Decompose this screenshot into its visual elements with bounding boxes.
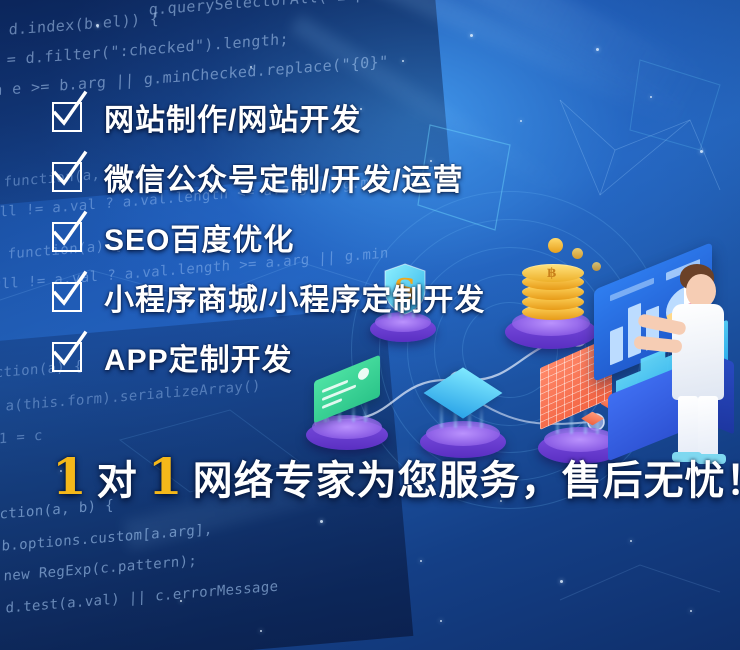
pedestal-card — [306, 410, 388, 450]
service-item-label: SEO百度优化 — [104, 215, 294, 259]
checked-box-icon[interactable] — [52, 342, 82, 372]
checked-box-icon[interactable] — [52, 282, 82, 312]
code-line: = b.options.custom[a.arg], — [0, 522, 213, 556]
checked-box-icon[interactable] — [52, 102, 82, 132]
service-item-wechat[interactable]: 微信公众号定制/开发/运营 — [52, 156, 672, 198]
code-line: q.querySelectorAll("input[type=checkbox]… — [130, 0, 544, 20]
code-line: = new RegExp(c.pattern); — [0, 553, 197, 586]
service-item-miniprogram[interactable]: 小程序商城/小程序定制开发 — [52, 276, 672, 318]
service-item-seo[interactable]: SEO百度优化 — [52, 216, 672, 258]
code-line: 1 = c — [0, 428, 43, 448]
checked-box-icon[interactable] — [52, 222, 82, 252]
service-item-label: 小程序商城/小程序定制开发 — [104, 275, 485, 319]
checked-box-icon[interactable] — [52, 162, 82, 192]
headline-number-first: 1 — [52, 452, 87, 502]
cube-icon — [600, 396, 627, 412]
code-line: = d.index(b.el)) { — [0, 10, 160, 41]
code-line: n d.test(a.val) || c.errorMessage — [0, 579, 279, 618]
service-item-label: 微信公众号定制/开发/运营 — [104, 155, 464, 199]
analyst-person-icon — [666, 264, 740, 464]
service-item-label: APP定制开发 — [104, 335, 293, 379]
headline-middle-word: 对 — [97, 461, 138, 501]
headline-slogan: 1 对 1 网络专家为您服务，售后无忧！ — [52, 452, 740, 502]
promo-banner: q.querySelectorAll("input[type=checkbox]… — [0, 0, 740, 650]
cube-icon — [581, 412, 604, 426]
headline-number-second: 1 — [148, 452, 183, 502]
headline-tail-text: 网络专家为您服务，售后无忧！ — [193, 461, 740, 501]
service-list: 网站制作/网站开发 微信公众号定制/开发/运营 SEO百度优化 — [52, 96, 672, 396]
service-item-app[interactable]: APP定制开发 — [52, 336, 672, 378]
service-item-label: 网站制作/网站开发 — [104, 95, 361, 139]
code-line: e = d.filter(":checked").length; — [0, 30, 289, 70]
service-item-website[interactable]: 网站制作/网站开发 — [52, 96, 672, 138]
